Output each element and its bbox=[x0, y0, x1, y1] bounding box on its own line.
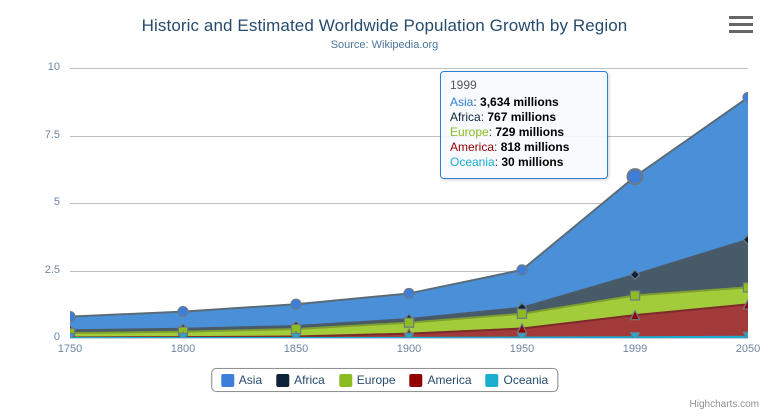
data-point-marker[interactable] bbox=[517, 309, 526, 318]
hamburger-bar-1 bbox=[729, 16, 753, 19]
data-point-marker[interactable] bbox=[404, 288, 414, 298]
data-point-marker[interactable] bbox=[70, 312, 75, 322]
legend-swatch-icon bbox=[410, 374, 423, 387]
data-point-marker[interactable] bbox=[178, 307, 188, 317]
tooltip-series-value: 30 millions bbox=[501, 155, 563, 169]
y-axis-tick-label: 5 bbox=[10, 196, 60, 208]
hovered-point-marker[interactable] bbox=[628, 169, 643, 184]
legend-item-label: Oceania bbox=[504, 373, 549, 387]
credits-label[interactable]: Highcharts.com bbox=[690, 399, 759, 410]
y-axis-tick-label: 7.5 bbox=[10, 129, 60, 141]
legend-item-label: Asia bbox=[239, 373, 262, 387]
tooltip-separator: : bbox=[473, 95, 480, 109]
tooltip-row: Oceania: 30 millions bbox=[450, 155, 598, 170]
legend[interactable]: AsiaAfricaEuropeAmericaOceania bbox=[211, 368, 558, 392]
tooltip-header: 1999 bbox=[450, 78, 598, 92]
legend-item-label: Europe bbox=[357, 373, 396, 387]
legend-item-europe[interactable]: Europe bbox=[339, 373, 396, 387]
tooltip: 1999 Asia: 3,634 millionsAfrica: 767 mil… bbox=[440, 71, 608, 179]
x-axis-tick-label: 1750 bbox=[35, 343, 105, 355]
hamburger-bar-2 bbox=[729, 23, 753, 26]
highcharts-container: Historic and Estimated Worldwide Populat… bbox=[0, 0, 769, 416]
plot-area bbox=[70, 68, 748, 338]
x-axis-tick-label: 1900 bbox=[374, 343, 444, 355]
tooltip-series-name: Africa bbox=[450, 110, 481, 124]
legend-swatch-icon bbox=[486, 374, 499, 387]
tooltip-series-name: Oceania bbox=[450, 155, 495, 169]
data-point-marker[interactable] bbox=[630, 291, 639, 300]
legend-item-label: Africa bbox=[294, 373, 325, 387]
legend-swatch-icon bbox=[339, 374, 352, 387]
data-point-marker[interactable] bbox=[743, 283, 748, 292]
tooltip-separator: : bbox=[494, 140, 501, 154]
tooltip-series-name: Asia bbox=[450, 95, 473, 109]
tooltip-rows: Asia: 3,634 millionsAfrica: 767 millions… bbox=[450, 95, 598, 170]
tooltip-series-value: 3,634 millions bbox=[480, 95, 559, 109]
legend-item-oceania[interactable]: Oceania bbox=[486, 373, 549, 387]
data-point-marker[interactable] bbox=[517, 265, 527, 275]
tooltip-series-name: Europe bbox=[450, 125, 489, 139]
x-axis-tick-label: 1950 bbox=[487, 343, 557, 355]
tooltip-series-name: America bbox=[450, 140, 494, 154]
tooltip-row: Africa: 767 millions bbox=[450, 110, 598, 125]
legend-swatch-icon bbox=[276, 374, 289, 387]
data-point-marker[interactable] bbox=[404, 318, 413, 327]
hamburger-menu-icon[interactable] bbox=[729, 16, 753, 36]
tooltip-row: Europe: 729 millions bbox=[450, 125, 598, 140]
tooltip-series-value: 729 millions bbox=[495, 125, 564, 139]
x-axis-tick-label: 1850 bbox=[261, 343, 331, 355]
y-axis-tick-label: 0 bbox=[10, 331, 60, 343]
tooltip-series-value: 818 millions bbox=[501, 140, 570, 154]
tooltip-series-value: 767 millions bbox=[487, 110, 556, 124]
data-point-marker[interactable] bbox=[743, 92, 748, 102]
x-axis-tick-label: 1999 bbox=[600, 343, 670, 355]
legend-swatch-icon bbox=[221, 374, 234, 387]
tooltip-row: Asia: 3,634 millions bbox=[450, 95, 598, 110]
series-layer bbox=[70, 68, 748, 338]
x-axis-line bbox=[70, 338, 748, 339]
hamburger-bar-3 bbox=[729, 30, 753, 33]
x-axis-tick-label: 1800 bbox=[148, 343, 218, 355]
data-point-marker[interactable] bbox=[291, 299, 301, 309]
y-axis-tick-label: 2.5 bbox=[10, 264, 60, 276]
y-axis-tick-label: 10 bbox=[10, 61, 60, 73]
legend-item-america[interactable]: America bbox=[410, 373, 472, 387]
legend-item-africa[interactable]: Africa bbox=[276, 373, 325, 387]
chart-subtitle: Source: Wikipedia.org bbox=[0, 39, 769, 51]
legend-item-label: America bbox=[428, 373, 472, 387]
chart-title: Historic and Estimated Worldwide Populat… bbox=[0, 16, 769, 36]
x-axis-tick-label: 2050 bbox=[713, 343, 769, 355]
tooltip-row: America: 818 millions bbox=[450, 140, 598, 155]
legend-item-asia[interactable]: Asia bbox=[221, 373, 262, 387]
